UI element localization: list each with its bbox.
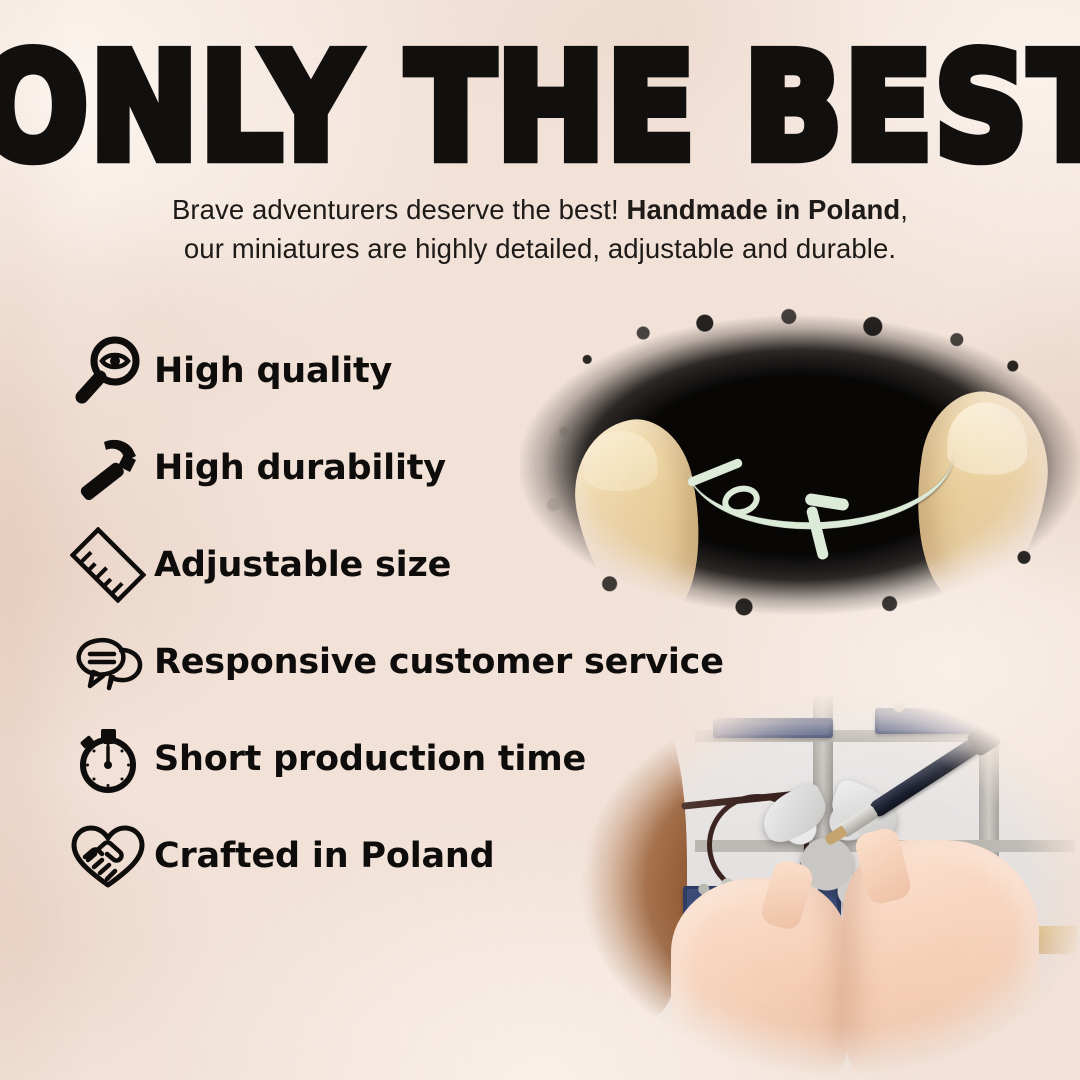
feature-label: Short production time — [154, 739, 586, 779]
feature-label: Responsive customer service — [154, 642, 724, 682]
headline-area: ONLY THE BEST — [0, 0, 1080, 180]
page-title: ONLY THE BEST — [0, 34, 1080, 183]
photo-flexible-part — [520, 300, 1080, 630]
speech-bubbles-icon — [62, 619, 154, 705]
feature-label: High durability — [154, 448, 446, 488]
dragon-wing-left — [755, 780, 833, 847]
photo-painting-workshop — [575, 690, 1080, 1080]
feature-label: Crafted in Poland — [154, 836, 494, 876]
ruler-icon — [62, 522, 154, 608]
subtitle-highlight: Handmade in Poland — [627, 194, 901, 225]
minis-upper — [881, 696, 1061, 714]
feature-label: Adjustable size — [154, 545, 451, 585]
promo-poster: ONLY THE BEST Brave adventurers deserve … — [0, 0, 1080, 1080]
torn-edge-grain — [520, 300, 1080, 630]
hand-left — [671, 878, 849, 1080]
hand-right — [843, 840, 1039, 1080]
stopwatch-icon — [62, 716, 154, 802]
heart-handshake-icon — [62, 813, 154, 899]
subtitle: Brave adventurers deserve the best! Hand… — [90, 190, 990, 268]
photo-bottom-backdrop — [575, 690, 1080, 1080]
magnifier-eye-icon — [62, 328, 154, 414]
subtitle-line1-lead: Brave adventurers deserve the best! — [172, 194, 627, 225]
feature-label: High quality — [154, 351, 392, 391]
paint-brush — [867, 733, 987, 819]
tray-label — [713, 718, 833, 738]
subtitle-line1-tail: , — [900, 194, 908, 225]
hammer-icon — [62, 425, 154, 511]
subtitle-line2: our miniatures are highly detailed, adju… — [184, 233, 896, 264]
